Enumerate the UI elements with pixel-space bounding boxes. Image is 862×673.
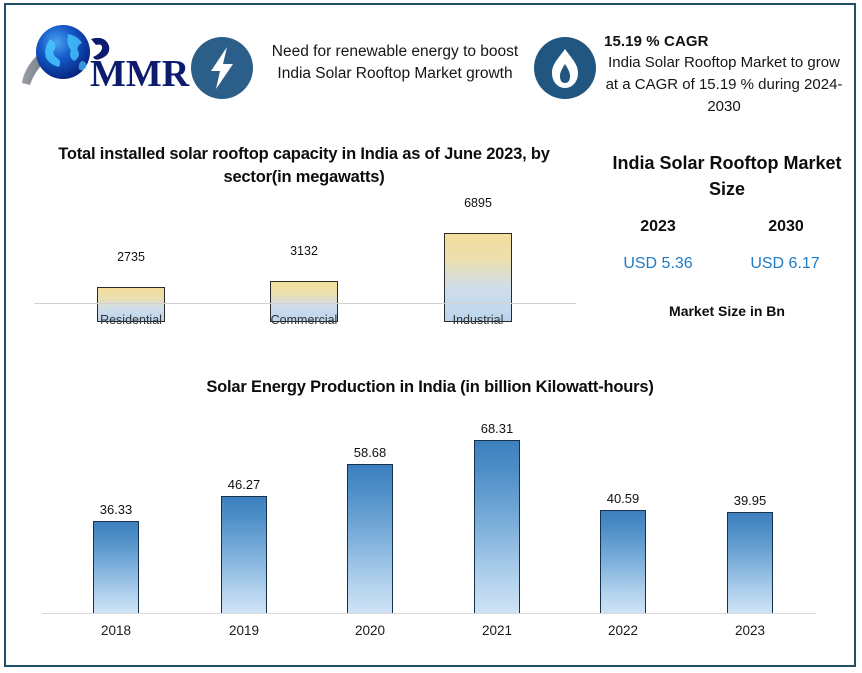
- x-axis-label: 2022: [578, 623, 668, 638]
- bar-2022: [600, 510, 646, 613]
- bar-2018: [93, 521, 139, 613]
- company-logo: MMR: [16, 17, 191, 97]
- bar-2023: [727, 512, 773, 613]
- x-axis-line: [42, 613, 816, 614]
- infographic-frame: MMR Need for renewable energy to boost I…: [4, 3, 856, 667]
- bar-2021: [474, 440, 520, 613]
- market-size-title: India Solar Rooftop Market Size: [602, 151, 852, 202]
- bar-value-label: 68.31: [452, 421, 542, 436]
- bar-value-label: 58.68: [325, 445, 415, 460]
- lightning-bolt-icon: [191, 37, 253, 99]
- bar-value-label: 2735: [86, 250, 176, 264]
- x-axis-label: 2020: [325, 623, 415, 638]
- chart-plot-area: [20, 207, 590, 322]
- cagr-description: India Solar Rooftop Market to grow at a …: [604, 52, 844, 117]
- market-size-base-year: 2023: [608, 218, 708, 236]
- bar-value-label: 40.59: [578, 491, 668, 506]
- solar-production-chart: Solar Energy Production in India (in bil…: [6, 365, 854, 650]
- bar-2019: [221, 496, 267, 613]
- bar-value-label: 6895: [433, 196, 523, 210]
- bar-value-label: 36.33: [71, 502, 161, 517]
- market-size-panel: India Solar Rooftop Market Size 2023 203…: [602, 145, 852, 330]
- bar-value-label: 46.27: [199, 477, 289, 492]
- svg-text:MMR: MMR: [90, 53, 190, 95]
- x-axis-label: 2019: [199, 623, 289, 638]
- x-axis-label: Industrial: [418, 313, 538, 327]
- market-size-forecast-value: USD 6.17: [730, 255, 840, 273]
- sector-capacity-chart: Total installed solar rooftop capacity i…: [20, 131, 590, 356]
- market-size-unit-note: Market Size in Bn: [602, 303, 852, 319]
- chart-plot-area: [6, 423, 854, 613]
- cagr-block: 15.19 % CAGR India Solar Rooftop Market …: [604, 33, 844, 117]
- x-axis-label: Residential: [71, 313, 191, 327]
- bar-industrial: [444, 233, 512, 322]
- bar-value-label: 39.95: [705, 493, 795, 508]
- x-axis-label: 2021: [452, 623, 542, 638]
- market-size-base-value: USD 5.36: [603, 255, 713, 273]
- market-size-forecast-year: 2030: [736, 218, 836, 236]
- bar-value-label: 3132: [259, 244, 349, 258]
- flame-icon: [534, 37, 596, 99]
- chart-title: Total installed solar rooftop capacity i…: [48, 143, 560, 190]
- x-axis-label: 2018: [71, 623, 161, 638]
- cagr-headline: 15.19 % CAGR: [604, 33, 844, 50]
- driver-text: Need for renewable energy to boost India…: [264, 41, 526, 86]
- x-axis-label: 2023: [705, 623, 795, 638]
- chart-title: Solar Energy Production in India (in bil…: [30, 378, 830, 397]
- bar-2020: [347, 464, 393, 613]
- x-axis-line: [34, 303, 576, 304]
- header: MMR Need for renewable energy to boost I…: [6, 5, 854, 123]
- x-axis-label: Commercial: [244, 313, 364, 327]
